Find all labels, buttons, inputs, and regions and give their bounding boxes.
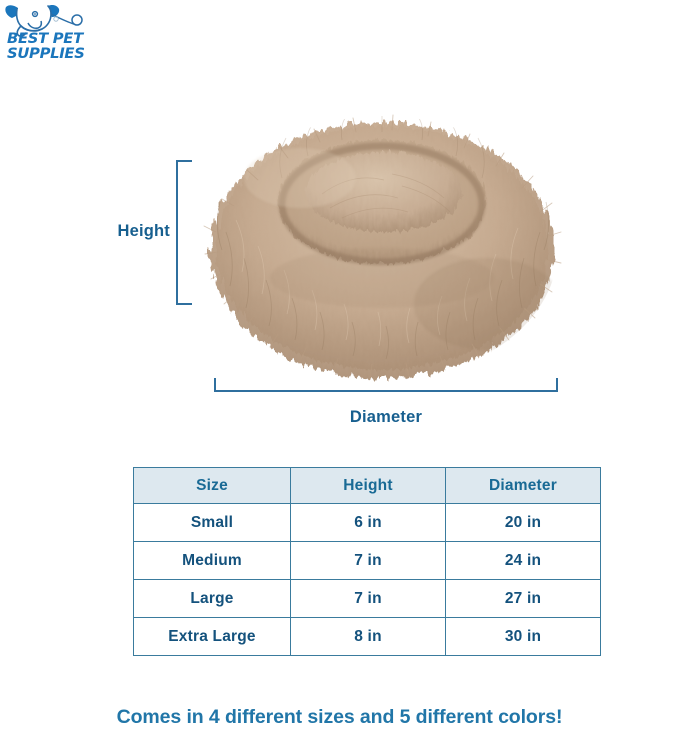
table-header-diameter: Diameter	[446, 468, 601, 504]
cell-size: Medium	[134, 542, 291, 580]
cell-height: 7 in	[291, 542, 446, 580]
table-row: Medium 7 in 24 in	[134, 542, 601, 580]
cell-diameter: 24 in	[446, 542, 601, 580]
table-row: Large 7 in 27 in	[134, 580, 601, 618]
cell-height: 6 in	[291, 504, 446, 542]
brand-wordmark-line-1: BEST PET	[7, 32, 95, 47]
table-header-row: Size Height Diameter	[134, 468, 601, 504]
table-row: Small 6 in 20 in	[134, 504, 601, 542]
brand-wordmark: BEST PET SUPPLIES	[7, 32, 95, 62]
cell-height: 7 in	[291, 580, 446, 618]
cell-diameter: 27 in	[446, 580, 601, 618]
table-header-size: Size	[134, 468, 291, 504]
cell-diameter: 20 in	[446, 504, 601, 542]
size-chart-table: Size Height Diameter Small 6 in 20 in Me…	[133, 467, 601, 656]
cell-height: 8 in	[291, 618, 446, 656]
product-image-pet-bed	[196, 82, 568, 388]
table-header-height: Height	[291, 468, 446, 504]
brand-logo: BEST PET SUPPLIES	[4, 2, 94, 70]
cell-diameter: 30 in	[446, 618, 601, 656]
table-row: Extra Large 8 in 30 in	[134, 618, 601, 656]
cell-size: Large	[134, 580, 291, 618]
brand-wordmark-line-2: SUPPLIES	[7, 47, 95, 62]
cell-size: Extra Large	[134, 618, 291, 656]
diameter-label: Diameter	[214, 408, 558, 427]
height-bracket-icon	[176, 160, 192, 305]
diameter-bracket-icon	[214, 378, 558, 392]
height-label: Height	[60, 222, 170, 241]
cell-size: Small	[134, 504, 291, 542]
footer-tagline: Comes in 4 different sizes and 5 differe…	[0, 706, 679, 729]
